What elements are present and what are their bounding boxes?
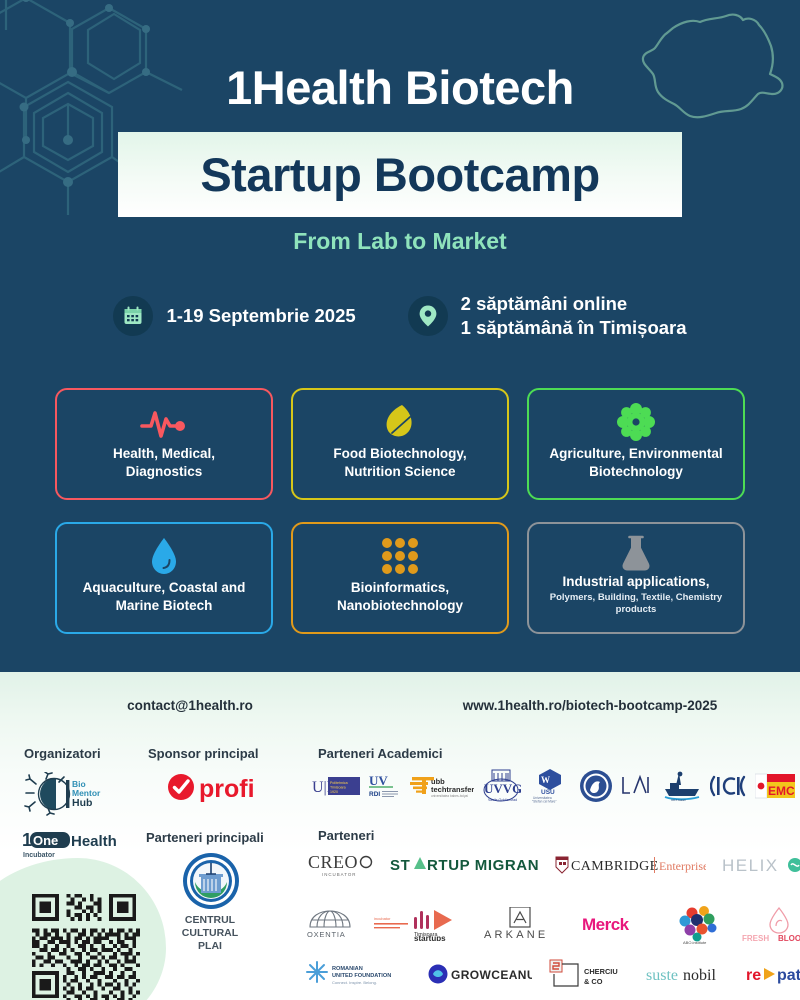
svg-text:CAMBRIDGE: CAMBRIDGE bbox=[571, 859, 659, 874]
logo-romanian-united-foundation: ROMANIAN UNITED FOUNDATION Connect. Insp… bbox=[306, 960, 412, 988]
svg-text:ROMANIAN: ROMANIAN bbox=[332, 966, 363, 972]
qr-code[interactable] bbox=[28, 890, 140, 1000]
logo-emc: EMC bbox=[755, 772, 795, 800]
logo-helix: HELIX bbox=[722, 854, 800, 876]
partner-logos-row-3: ROMANIAN UNITED FOUNDATION Connect. Insp… bbox=[306, 958, 796, 990]
category-card-industrial[interactable]: Industrial applications, Polymers, Build… bbox=[527, 522, 745, 634]
partner-logos-row-2: OXENTIA incubator Timisoara startups bbox=[306, 904, 796, 944]
logo-uvvg: UVVG Vasile Goldis Arad bbox=[481, 769, 521, 803]
svg-text:HELIX: HELIX bbox=[722, 856, 779, 875]
svg-text:Hub: Hub bbox=[72, 797, 92, 809]
section-label-parteneri: Parteneri bbox=[318, 828, 374, 843]
category-card-label: Agriculture, Environmental Biotechnology bbox=[549, 445, 722, 481]
logo-growceanu: GROWCEANU bbox=[428, 963, 532, 985]
svg-text:EMC: EMC bbox=[768, 784, 795, 798]
logo-bio-mentor-hub: Bio Mentor Hub bbox=[24, 772, 128, 816]
hero-section: 1Health Biotech Startup Bootcamp From La… bbox=[0, 0, 800, 672]
contact-row: contact@1health.ro www.1health.ro/biotec… bbox=[0, 698, 800, 713]
logo-uvt-rdi: UV RDI bbox=[367, 772, 403, 800]
section-label-organizatori: Organizatori bbox=[24, 746, 101, 761]
page-title-line2: Startup Bootcamp bbox=[200, 151, 599, 198]
svg-text:ABQ.institute: ABQ.institute bbox=[683, 940, 707, 944]
svg-text:Politehnica: Politehnica bbox=[330, 781, 348, 785]
partner-logos-row-1: CREO INCUBATOR ST RTUP MIGRANTS CAMBRIDG… bbox=[308, 850, 796, 880]
event-location: 2 săptămâni online 1 săptămână în Timișo… bbox=[408, 292, 687, 339]
event-date-text: 1-19 Septembrie 2025 bbox=[166, 304, 355, 328]
svg-text:CREO: CREO bbox=[308, 852, 358, 872]
section-label-parteneri-academici: Parteneri Academici bbox=[318, 746, 443, 761]
category-card-agriculture[interactable]: Agriculture, Environmental Biotechnology bbox=[527, 388, 745, 500]
logo-umf-victor-babes bbox=[579, 769, 613, 803]
logo-plai-caption: CENTRUL CULTURAL PLAI bbox=[150, 914, 270, 952]
svg-text:RDI: RDI bbox=[369, 791, 380, 798]
svg-text:UNITED FOUNDATION: UNITED FOUNDATION bbox=[332, 973, 391, 979]
category-card-label: Bioinformatics, Nanobiotechnology bbox=[337, 579, 463, 615]
category-card-food[interactable]: Food Biotechnology, Nutrition Science bbox=[291, 388, 509, 500]
logo-sustenobil: suste nobil bbox=[646, 963, 730, 985]
svg-text:Timisoara: Timisoara bbox=[330, 786, 346, 790]
svg-text:profi: profi bbox=[199, 775, 255, 803]
category-card-label: Health, Medical, Diagnostics bbox=[113, 445, 215, 481]
svg-text:GROWCEANU: GROWCEANU bbox=[451, 968, 532, 982]
event-meta-row: 1-19 Septembrie 2025 2 săptămâni online … bbox=[0, 292, 800, 339]
svg-text:nobil: nobil bbox=[683, 967, 716, 984]
svg-text:suste: suste bbox=[646, 967, 678, 984]
svg-text:OXENTIA: OXENTIA bbox=[307, 930, 346, 939]
svg-text:patriot: patriot bbox=[777, 967, 800, 984]
category-card-sublabel: Polymers, Building, Textile, Chemistry p… bbox=[550, 592, 722, 616]
svg-text:Merck: Merck bbox=[582, 915, 630, 934]
water-drop-icon bbox=[149, 535, 179, 577]
logo-startup-migrants: ST RTUP MIGRANTS bbox=[390, 855, 538, 875]
logo-cambridge-enterprise: CAMBRIDGE Enterprise bbox=[554, 854, 706, 876]
svg-text:INCUBATOR: INCUBATOR bbox=[322, 872, 356, 877]
svg-text:UDJ Galati: UDJ Galati bbox=[671, 798, 686, 801]
event-location-text: 2 săptămâni online 1 săptămână în Timișo… bbox=[461, 292, 687, 339]
section-label-parteneri-principali: Parteneri principali bbox=[146, 830, 264, 845]
category-card-aquaculture[interactable]: Aquaculture, Coastal and Marine Biotech bbox=[55, 522, 273, 634]
contact-email[interactable]: contact@1health.ro bbox=[0, 698, 380, 713]
category-card-label: Aquaculture, Coastal and Marine Biotech bbox=[83, 579, 246, 615]
svg-text:USU: USU bbox=[541, 789, 555, 796]
logo-cherciu-co: CHERCIU & CO bbox=[548, 958, 630, 990]
svg-text:startups: startups bbox=[414, 934, 446, 941]
section-label-sponsor-principal: Sponsor principal bbox=[148, 746, 259, 761]
logo-onehealth-incubator: 1 One Health Incubator bbox=[22, 828, 134, 862]
heartbeat-icon bbox=[138, 401, 190, 443]
svg-text:Vasile Goldis Arad: Vasile Goldis Arad bbox=[488, 798, 517, 802]
logo-centrul-cultural-plai bbox=[182, 852, 240, 910]
dots-grid-icon bbox=[380, 535, 420, 577]
svg-text:1920: 1920 bbox=[330, 790, 338, 794]
tagline: From Lab to Market bbox=[0, 228, 800, 255]
flower-gear-icon bbox=[617, 401, 655, 443]
svg-text:ST: ST bbox=[390, 857, 410, 874]
page-title-highlight-box: Startup Bootcamp bbox=[118, 132, 682, 217]
svg-text:Incubator: Incubator bbox=[23, 852, 55, 859]
event-date: 1-19 Septembrie 2025 bbox=[113, 292, 355, 339]
svg-text:Enterprise: Enterprise bbox=[659, 859, 706, 873]
logo-arkane: ARKANE bbox=[484, 907, 568, 941]
svg-text:universitatea babes-bolyai: universitatea babes-bolyai bbox=[431, 794, 468, 798]
academic-partner-logos: U|P Politehnica Timisoara 1920 UV RDI bbox=[312, 768, 796, 804]
category-card-label: Food Biotechnology, Nutrition Science bbox=[333, 445, 466, 481]
svg-text:UVVG: UVVG bbox=[484, 781, 521, 796]
leaf-icon bbox=[380, 401, 420, 443]
category-card-health[interactable]: Health, Medical, Diagnostics bbox=[55, 388, 273, 500]
svg-text:techtransfer: techtransfer bbox=[431, 785, 474, 794]
svg-text:W: W bbox=[541, 775, 550, 785]
logo-freshblood: FRESH BLOOD bbox=[740, 906, 800, 942]
svg-text:ARKANE: ARKANE bbox=[484, 929, 548, 941]
svg-text:& CO: & CO bbox=[584, 977, 603, 986]
page-title-line1: 1Health Biotech bbox=[0, 60, 800, 115]
logo-udjg-galati: UDJ Galati bbox=[661, 771, 703, 801]
calendar-icon bbox=[113, 296, 153, 336]
location-pin-icon bbox=[408, 296, 448, 336]
svg-text:incubator: incubator bbox=[374, 916, 391, 921]
svg-text:One: One bbox=[33, 833, 58, 848]
logo-creo-incubator: CREO INCUBATOR bbox=[308, 850, 374, 880]
logo-abq-institute: ABQ.institute bbox=[674, 904, 726, 944]
svg-text:UV: UV bbox=[369, 773, 388, 788]
logo-lav bbox=[620, 773, 654, 799]
logo-ubb-tech-transfer: ubb techtransfer universitatea babes-bol… bbox=[410, 773, 474, 799]
logo-timisoara-startups: incubator Timisoara startups bbox=[374, 907, 470, 941]
svg-text:"Stefan cel Mare": "Stefan cel Mare" bbox=[532, 800, 557, 804]
svg-text:CHERCIU: CHERCIU bbox=[584, 967, 618, 976]
logo-usv-suceava: W USU Universitatea "Stefan cel Mare" bbox=[528, 768, 572, 804]
logo-profi: profi bbox=[166, 770, 286, 804]
logo-ici-bucuresti bbox=[710, 773, 748, 799]
category-card-bioinformatics[interactable]: Bioinformatics, Nanobiotechnology bbox=[291, 522, 509, 634]
svg-text:RTUP MIGRANTS: RTUP MIGRANTS bbox=[427, 857, 538, 874]
svg-text:re: re bbox=[746, 967, 761, 984]
svg-text:Health: Health bbox=[71, 833, 117, 850]
logo-oxentia: OXENTIA bbox=[306, 908, 360, 940]
poster-root: 1Health Biotech Startup Bootcamp From La… bbox=[0, 0, 800, 1000]
category-cards-grid: Health, Medical, Diagnostics Food Biotec… bbox=[55, 388, 745, 634]
category-card-label: Industrial applications, bbox=[562, 573, 709, 591]
footer-section: contact@1health.ro www.1health.ro/biotec… bbox=[0, 672, 800, 1000]
contact-website[interactable]: www.1health.ro/biotech-bootcamp-2025 bbox=[380, 698, 800, 713]
flask-icon bbox=[621, 535, 651, 571]
logo-upt-politehnica: U|P Politehnica Timisoara 1920 bbox=[312, 773, 360, 799]
logo-merck: Merck bbox=[582, 914, 660, 934]
svg-text:Connect. Inspire. Belong.: Connect. Inspire. Belong. bbox=[332, 980, 377, 985]
svg-text:BLOOD: BLOOD bbox=[778, 934, 800, 942]
logo-repatriot: re patriot bbox=[746, 963, 800, 985]
svg-text:FRESH: FRESH bbox=[742, 934, 769, 942]
